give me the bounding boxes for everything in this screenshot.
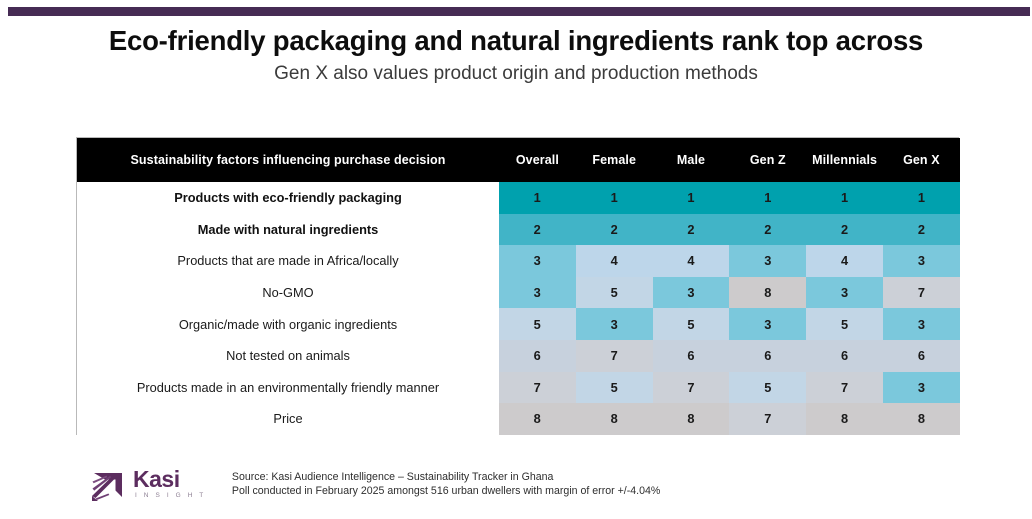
rank-cell: 8 xyxy=(883,403,960,435)
rank-cell: 3 xyxy=(729,308,806,340)
rank-cell: 5 xyxy=(576,277,653,309)
table-row: Not tested on animals676666 xyxy=(77,340,960,372)
rank-cell: 7 xyxy=(883,277,960,309)
footer: Kasi I N S I G H T Source: Kasi Audience… xyxy=(88,466,660,502)
source-line-1: Source: Kasi Audience Intelligence – Sus… xyxy=(232,470,660,484)
rank-cell: 6 xyxy=(653,340,730,372)
row-label: Organic/made with organic ingredients xyxy=(77,308,499,340)
column-header-factor: Sustainability factors influencing purch… xyxy=(77,138,499,182)
rank-matrix-table: Sustainability factors influencing purch… xyxy=(76,137,959,435)
table-row: Organic/made with organic ingredients535… xyxy=(77,308,960,340)
row-label: Products made in an environmentally frie… xyxy=(77,372,499,404)
rank-cell: 4 xyxy=(576,245,653,277)
column-header-gen-z: Gen Z xyxy=(729,138,806,182)
kasi-logo-word: Kasi xyxy=(133,468,206,491)
rank-cell: 1 xyxy=(576,182,653,214)
rank-cell: 1 xyxy=(729,182,806,214)
rank-cell: 8 xyxy=(499,403,576,435)
rank-cell: 2 xyxy=(653,214,730,246)
row-label: Price xyxy=(77,403,499,435)
rank-cell: 4 xyxy=(806,245,883,277)
table-row: No-GMO353837 xyxy=(77,277,960,309)
slide-canvas: Eco-friendly packaging and natural ingre… xyxy=(0,0,1032,519)
page-title: Eco-friendly packaging and natural ingre… xyxy=(0,26,1032,56)
rank-cell: 7 xyxy=(729,403,806,435)
kasi-wordmark: Kasi I N S I G H T xyxy=(133,468,206,500)
rank-cell: 7 xyxy=(576,340,653,372)
rank-cell: 6 xyxy=(883,340,960,372)
rank-cell: 3 xyxy=(883,245,960,277)
rank-cell: 3 xyxy=(883,308,960,340)
row-label: Made with natural ingredients xyxy=(77,214,499,246)
rank-cell: 2 xyxy=(576,214,653,246)
table-row: Products made in an environmentally frie… xyxy=(77,372,960,404)
rank-cell: 3 xyxy=(499,277,576,309)
rank-cell: 2 xyxy=(806,214,883,246)
row-label: Not tested on animals xyxy=(77,340,499,372)
rank-cell: 1 xyxy=(499,182,576,214)
table-body: Products with eco-friendly packaging1111… xyxy=(77,182,960,435)
table-row: Products that are made in Africa/locally… xyxy=(77,245,960,277)
rank-cell: 3 xyxy=(806,277,883,309)
rank-cell: 5 xyxy=(729,372,806,404)
column-header-gen-x: Gen X xyxy=(883,138,960,182)
rank-cell: 5 xyxy=(806,308,883,340)
rank-cell: 3 xyxy=(729,245,806,277)
rank-cell: 6 xyxy=(806,340,883,372)
kasi-logo-tagline: I N S I G H T xyxy=(135,493,206,500)
rank-cell: 6 xyxy=(729,340,806,372)
rank-cell: 2 xyxy=(883,214,960,246)
column-header-female: Female xyxy=(576,138,653,182)
column-header-millennials: Millennials xyxy=(806,138,883,182)
rank-cell: 3 xyxy=(653,277,730,309)
rank-cell: 8 xyxy=(806,403,883,435)
kasi-logo: Kasi I N S I G H T xyxy=(88,466,206,502)
rank-cell: 2 xyxy=(729,214,806,246)
source-note: Source: Kasi Audience Intelligence – Sus… xyxy=(232,470,660,499)
rank-cell: 7 xyxy=(653,372,730,404)
rank-cell: 1 xyxy=(883,182,960,214)
row-label: Products with eco-friendly packaging xyxy=(77,182,499,214)
rank-cell: 5 xyxy=(499,308,576,340)
top-accent-bar xyxy=(8,7,1030,16)
source-line-2: Poll conducted in February 2025 amongst … xyxy=(232,484,660,498)
rank-cell: 8 xyxy=(729,277,806,309)
rank-cell: 7 xyxy=(499,372,576,404)
rank-cell: 7 xyxy=(806,372,883,404)
rank-cell: 3 xyxy=(576,308,653,340)
rank-cell: 2 xyxy=(499,214,576,246)
header-row: Sustainability factors influencing purch… xyxy=(77,138,960,182)
page-subtitle: Gen X also values product origin and pro… xyxy=(0,63,1032,86)
rank-cell: 1 xyxy=(806,182,883,214)
table-header: Sustainability factors influencing purch… xyxy=(77,138,960,182)
rank-cell: 6 xyxy=(499,340,576,372)
column-header-male: Male xyxy=(653,138,730,182)
rank-cell: 3 xyxy=(499,245,576,277)
rank-cell: 1 xyxy=(653,182,730,214)
rank-cell: 8 xyxy=(576,403,653,435)
column-header-overall: Overall xyxy=(499,138,576,182)
kasi-arrow-icon xyxy=(88,466,128,502)
rank-cell: 8 xyxy=(653,403,730,435)
row-label: No-GMO xyxy=(77,277,499,309)
rank-cell: 5 xyxy=(653,308,730,340)
rank-cell: 5 xyxy=(576,372,653,404)
matrix: Sustainability factors influencing purch… xyxy=(77,138,960,435)
rank-cell: 4 xyxy=(653,245,730,277)
table-row: Price888788 xyxy=(77,403,960,435)
rank-cell: 3 xyxy=(883,372,960,404)
row-label: Products that are made in Africa/locally xyxy=(77,245,499,277)
table-row: Products with eco-friendly packaging1111… xyxy=(77,182,960,214)
table-row: Made with natural ingredients222222 xyxy=(77,214,960,246)
